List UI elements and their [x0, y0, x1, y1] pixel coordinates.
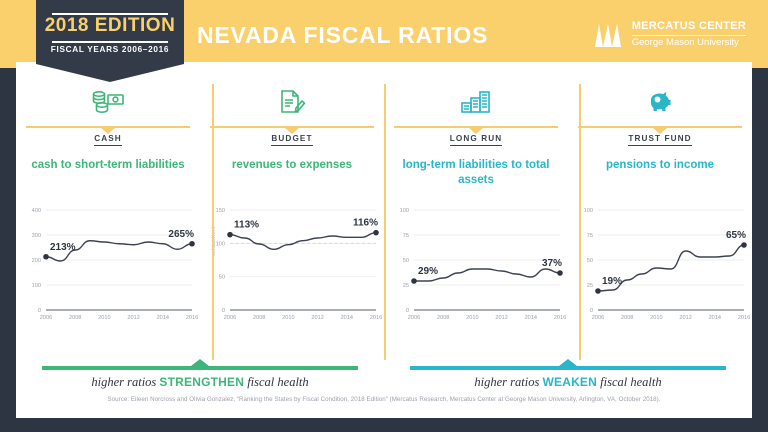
- svg-text:150: 150: [216, 208, 225, 214]
- badge-rule-bottom: [52, 41, 168, 43]
- svg-text:2014: 2014: [341, 315, 353, 321]
- chart-long-run: 025507510020062008201020122014201629%37%: [384, 202, 568, 334]
- chart-budget-svg: 050100150solventinsolvent200620082010201…: [200, 202, 384, 334]
- banner-prefix: higher ratios: [91, 375, 159, 389]
- budget-document-icon: [200, 87, 384, 117]
- panel-row: CASH cash to short-term liabilities 0100…: [16, 84, 752, 374]
- svg-text:2016: 2016: [554, 315, 566, 321]
- svg-text:2006: 2006: [408, 315, 420, 321]
- svg-text:2014: 2014: [525, 315, 537, 321]
- svg-text:265%: 265%: [168, 229, 194, 240]
- panel-long-run: LONG RUN long-term liabilities to total …: [384, 84, 568, 374]
- panel-rule: [210, 126, 374, 128]
- svg-text:2012: 2012: [127, 315, 139, 321]
- page-title: NEVADA FISCAL RATIOS: [197, 22, 488, 49]
- svg-text:100: 100: [400, 208, 409, 214]
- svg-text:2012: 2012: [495, 315, 507, 321]
- chart-trust-fund-svg: 025507510020062008201020122014201619%65%: [568, 202, 752, 334]
- svg-text:0: 0: [38, 308, 41, 314]
- chart-trust-fund: 025507510020062008201020122014201619%65%: [568, 202, 752, 334]
- panel-title-cash: cash to short-term liabilities: [16, 158, 200, 173]
- panel-title-budget: revenues to expenses: [200, 158, 384, 173]
- panel-budget: BUDGET revenues to expenses 050100150sol…: [200, 84, 384, 374]
- svg-text:2006: 2006: [224, 315, 236, 321]
- banner-row: higher ratios STRENGTHEN fiscal health h…: [16, 360, 752, 394]
- svg-text:25: 25: [587, 283, 593, 289]
- svg-text:100: 100: [584, 208, 593, 214]
- infographic-page: NEVADA FISCAL RATIOS MERCATUS CENTER Geo…: [0, 0, 768, 432]
- badge-subtitle: FISCAL YEARS 2006–2016: [36, 45, 184, 54]
- svg-text:75: 75: [403, 233, 409, 239]
- svg-text:2016: 2016: [738, 315, 750, 321]
- mercatus-logo: MERCATUS CENTER George Mason University: [595, 21, 746, 48]
- panel-divider-1: [212, 84, 214, 360]
- source-citation: Source: Eileen Norcross and Olivia Gonza…: [0, 396, 768, 403]
- badge-year-label: 2018 EDITION: [36, 15, 184, 37]
- logo-secondary-text: George Mason University: [632, 38, 746, 48]
- panel-kicker-long-run: LONG RUN: [384, 134, 568, 143]
- logo-primary-text: MERCATUS CENTER: [632, 21, 746, 33]
- chart-budget: 050100150solventinsolvent200620082010201…: [200, 202, 384, 334]
- svg-text:100: 100: [32, 283, 41, 289]
- svg-text:300: 300: [32, 233, 41, 239]
- banner-emphasis: WEAKEN: [542, 375, 597, 389]
- svg-text:25: 25: [403, 283, 409, 289]
- svg-text:200: 200: [32, 258, 41, 264]
- svg-text:50: 50: [403, 258, 409, 264]
- cash-coins-icon: [16, 87, 200, 117]
- svg-text:65%: 65%: [726, 230, 746, 241]
- svg-text:37%: 37%: [542, 258, 562, 269]
- long-run-bars-icon: [384, 87, 568, 117]
- banner-text-strengthen: higher ratios STRENGTHEN fiscal health: [16, 375, 384, 390]
- banner-bar-strengthen: [42, 366, 358, 370]
- chart-cash-svg: 0100200300400200620082010201220142016213…: [16, 202, 200, 334]
- svg-text:2010: 2010: [98, 315, 110, 321]
- panel-kicker-trust-fund: TRUST FUND: [568, 134, 752, 143]
- logo-divider: [632, 35, 746, 36]
- panel-title-trust-fund: pensions to income: [568, 158, 752, 173]
- svg-text:2012: 2012: [679, 315, 691, 321]
- panel-divider-3: [579, 84, 581, 360]
- mercatus-logo-icon: [595, 22, 625, 47]
- svg-text:2008: 2008: [253, 315, 265, 321]
- svg-text:113%: 113%: [234, 220, 259, 231]
- banner-emphasis: STRENGTHEN: [159, 375, 244, 389]
- svg-text:2014: 2014: [157, 315, 169, 321]
- svg-text:0: 0: [590, 308, 593, 314]
- svg-text:50: 50: [587, 258, 593, 264]
- svg-text:2010: 2010: [650, 315, 662, 321]
- svg-text:100: 100: [216, 241, 225, 247]
- trust-fund-piggybank-icon: [568, 87, 752, 117]
- banner-suffix: fiscal health: [244, 375, 309, 389]
- svg-text:2008: 2008: [69, 315, 81, 321]
- panel-trust-fund: TRUST FUND pensions to income 0255075100…: [568, 84, 752, 374]
- panel-kicker-cash: CASH: [16, 134, 200, 143]
- svg-text:2016: 2016: [370, 315, 382, 321]
- banner-bar-weaken: [410, 366, 726, 370]
- panel-title-long-run: long-term liabilities to total assets: [384, 158, 568, 188]
- panel-kicker-budget: BUDGET: [200, 134, 384, 143]
- banner-text-weaken: higher ratios WEAKEN fiscal health: [384, 375, 752, 390]
- banner-prefix: higher ratios: [474, 375, 542, 389]
- svg-text:213%: 213%: [50, 242, 76, 253]
- svg-text:0: 0: [406, 308, 409, 314]
- svg-text:2012: 2012: [311, 315, 323, 321]
- svg-text:116%: 116%: [353, 218, 378, 229]
- panel-rule: [578, 126, 742, 128]
- chart-long-run-svg: 025507510020062008201020122014201629%37%: [384, 202, 568, 334]
- banner-suffix: fiscal health: [597, 375, 662, 389]
- svg-text:2016: 2016: [186, 315, 198, 321]
- svg-text:2014: 2014: [709, 315, 721, 321]
- panel-rule: [394, 126, 558, 128]
- svg-text:2010: 2010: [282, 315, 294, 321]
- banner-strengthen: higher ratios STRENGTHEN fiscal health: [16, 360, 384, 394]
- svg-text:2008: 2008: [437, 315, 449, 321]
- svg-text:2008: 2008: [621, 315, 633, 321]
- svg-text:400: 400: [32, 208, 41, 214]
- svg-text:75: 75: [587, 233, 593, 239]
- panel-cash: CASH cash to short-term liabilities 0100…: [16, 84, 200, 374]
- svg-text:29%: 29%: [418, 266, 438, 277]
- banner-weaken: higher ratios WEAKEN fiscal health: [384, 360, 752, 394]
- svg-text:2010: 2010: [466, 315, 478, 321]
- svg-text:2006: 2006: [40, 315, 52, 321]
- svg-text:0: 0: [222, 308, 225, 314]
- svg-text:50: 50: [219, 275, 225, 281]
- panel-divider-center: [384, 84, 386, 360]
- svg-text:19%: 19%: [602, 276, 622, 287]
- svg-text:2006: 2006: [592, 315, 604, 321]
- panel-rule: [26, 126, 190, 128]
- chart-cash: 0100200300400200620082010201220142016213…: [16, 202, 200, 334]
